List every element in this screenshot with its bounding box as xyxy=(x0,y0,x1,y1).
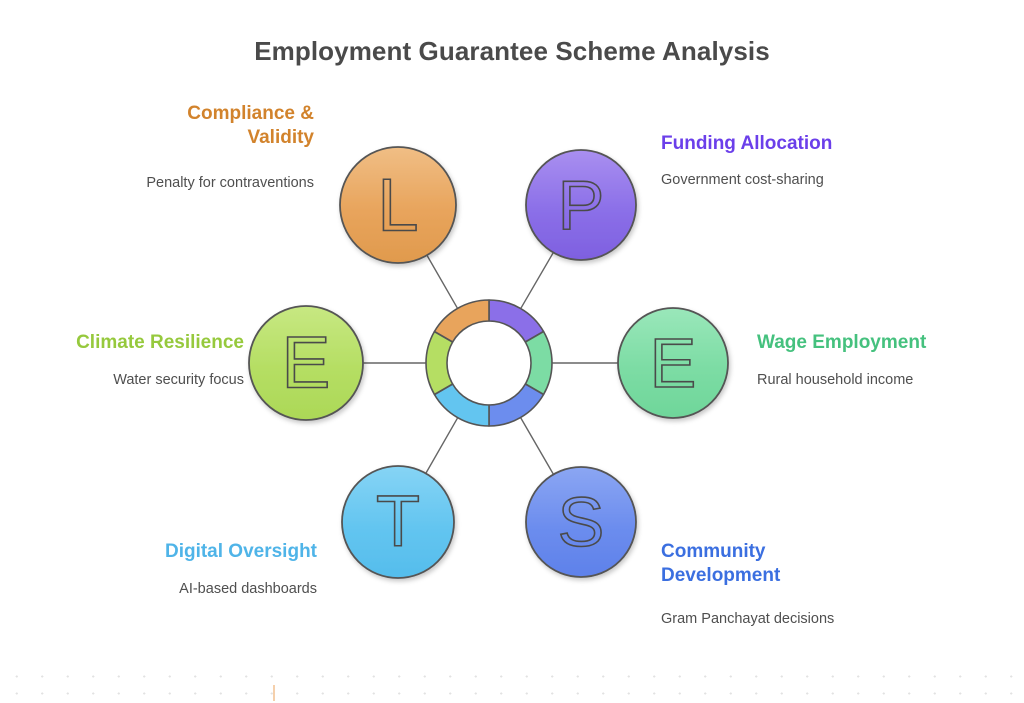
node-letter-community-development: S xyxy=(558,483,605,561)
label-title-wage-employment: Wage Employment xyxy=(757,331,1024,355)
hub-segment-wage-employment[interactable] xyxy=(525,332,552,395)
connector-digital-oversight xyxy=(426,419,457,473)
node-letter-compliance-validity: L xyxy=(377,164,418,247)
node-climate-resilience[interactable]: E xyxy=(249,306,363,420)
label-compliance-validity: Compliance &Validity Penalty for contrav… xyxy=(54,102,314,192)
connector-compliance-validity xyxy=(427,256,457,307)
label-climate-resilience: Climate Resilience Water security focus xyxy=(0,331,244,390)
node-compliance-validity[interactable]: L xyxy=(340,147,456,263)
label-wage-employment: Wage Employment Rural household income xyxy=(757,331,1024,390)
hub-segment-community-development[interactable] xyxy=(489,384,544,426)
diagram-canvas: Employment Guarantee Scheme Analysis LPE… xyxy=(0,0,1024,703)
connector-funding-allocation xyxy=(521,253,553,307)
node-digital-oversight[interactable]: T xyxy=(342,466,454,578)
label-desc-funding-allocation: Government cost-sharing xyxy=(661,171,961,190)
label-title-climate-resilience: Climate Resilience xyxy=(0,331,244,355)
label-desc-wage-employment: Rural household income xyxy=(757,371,1024,390)
node-funding-allocation[interactable]: P xyxy=(526,150,636,260)
label-desc-climate-resilience: Water security focus xyxy=(0,371,244,390)
label-community-development: CommunityDevelopment Gram Panchayat deci… xyxy=(661,540,921,628)
label-title-digital-oversight: Digital Oversight xyxy=(47,540,317,564)
node-letter-wage-employment: E xyxy=(650,324,697,402)
label-funding-allocation: Funding Allocation Government cost-shari… xyxy=(661,132,961,190)
connector-community-development xyxy=(521,418,553,473)
label-desc-compliance-validity: Penalty for contraventions xyxy=(54,174,314,193)
label-title-community-development: CommunityDevelopment xyxy=(661,540,921,588)
pestel-donut xyxy=(426,300,552,426)
label-desc-digital-oversight: AI-based dashboards xyxy=(47,580,317,599)
label-title-compliance-validity: Compliance &Validity xyxy=(54,102,314,150)
connector-lines xyxy=(364,253,617,473)
node-letter-digital-oversight: T xyxy=(376,482,420,562)
node-community-development[interactable]: S xyxy=(526,467,636,577)
node-letter-climate-resilience: E xyxy=(282,323,331,404)
hub-segment-climate-resilience[interactable] xyxy=(426,332,453,395)
hub-segment-compliance-validity[interactable] xyxy=(434,300,489,342)
node-wage-employment[interactable]: E xyxy=(618,308,728,418)
label-title-funding-allocation: Funding Allocation xyxy=(661,132,961,156)
label-digital-oversight: Digital Oversight AI-based dashboards xyxy=(47,540,317,599)
label-desc-community-development: Gram Panchayat decisions xyxy=(661,610,921,629)
node-letter-funding-allocation: P xyxy=(558,166,605,244)
